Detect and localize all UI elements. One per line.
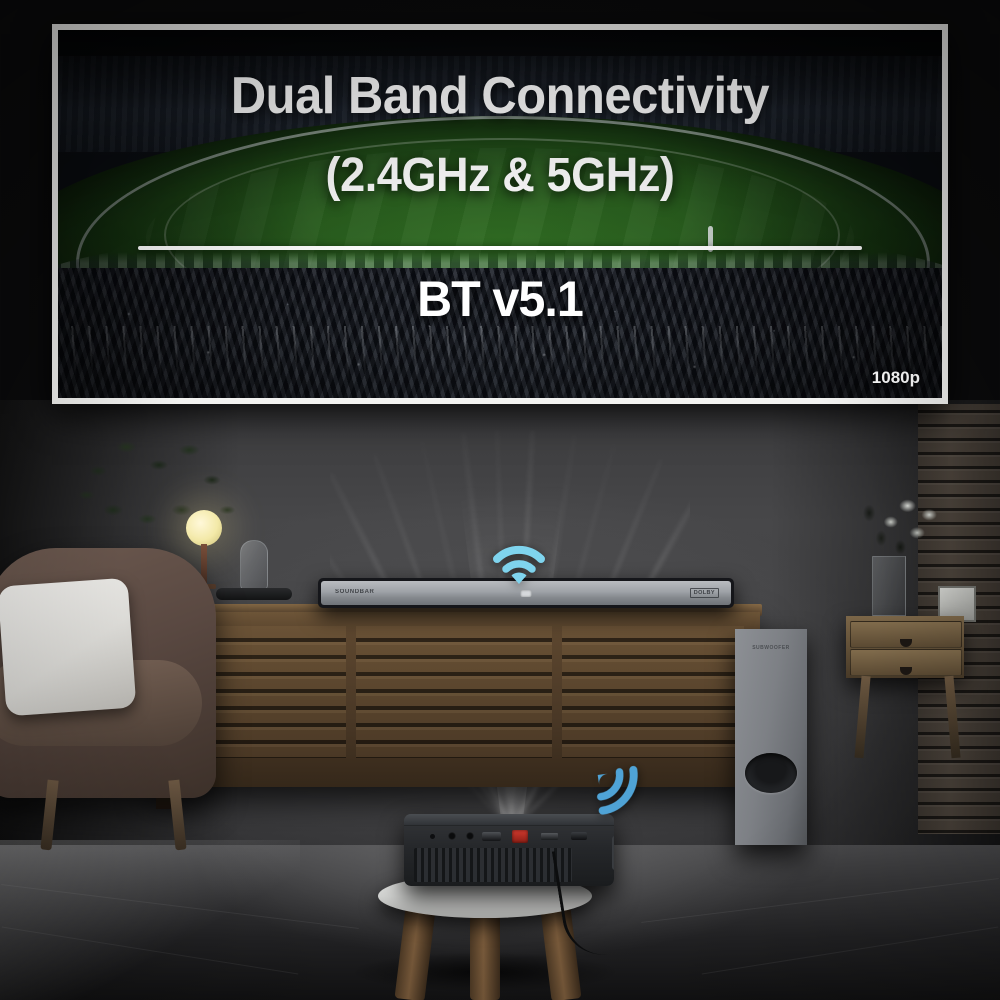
slat-line [918, 704, 1000, 707]
decorative-glassware [240, 540, 268, 590]
slat-line [918, 480, 1000, 483]
side-table [846, 616, 964, 678]
throw-pillow [0, 578, 136, 717]
projector-lifestyle-scene: Dual Band Connectivity (2.4GHz & 5GHz) B… [0, 0, 1000, 1000]
console-slat-line [356, 706, 552, 710]
side-table-drawer[interactable] [850, 649, 962, 676]
floor-light-pool [0, 840, 300, 1000]
headline-divider [138, 246, 862, 250]
aux-port[interactable] [571, 832, 587, 840]
stool-leg [470, 908, 500, 1000]
flower-vase [872, 556, 906, 616]
soundbar-status-led [521, 590, 532, 597]
console-slat-line [562, 672, 744, 676]
console-slat-line [562, 757, 744, 758]
dolby-badge: DOLBY [690, 588, 719, 598]
console-slat-line [356, 655, 552, 659]
screen-subheadline: (2.4GHz & 5GHz) [85, 152, 916, 200]
av-composite-port[interactable] [512, 830, 528, 843]
slat-line [918, 830, 1000, 833]
slat-line [918, 438, 1000, 441]
slat-line [918, 410, 1000, 413]
wifi-icon-soundbar [492, 542, 546, 586]
slat-line [918, 718, 1000, 721]
side-table-drawer[interactable] [850, 621, 962, 648]
screen-headline: Dual Band Connectivity [85, 70, 916, 122]
console-slat-line [562, 638, 744, 642]
slat-line [918, 774, 1000, 777]
wifi-icon-projector [593, 765, 647, 815]
console-slat-line [356, 672, 552, 676]
audio-out-jack[interactable] [448, 832, 456, 840]
projector-top-surface [404, 814, 614, 826]
slat-line [918, 424, 1000, 427]
console-slat-line [562, 655, 744, 659]
slat-line [918, 466, 1000, 469]
hdmi-port[interactable] [482, 832, 501, 841]
slat-line [918, 802, 1000, 805]
decorative-tray [216, 588, 292, 600]
slat-line [918, 788, 1000, 791]
console-slat-line [356, 638, 552, 642]
bluetooth-version-label: BT v5.1 [71, 274, 928, 324]
console-panel-right [562, 626, 744, 758]
resolution-badge: 1080p [872, 368, 920, 388]
soundbar-brand-label: SOUNDBAR [335, 589, 374, 595]
console-slat-line [356, 757, 552, 758]
console-slat-line [356, 740, 552, 744]
projector-vent-grille [414, 848, 572, 882]
globe-table-lamp [186, 510, 222, 546]
console-slat-line [562, 706, 744, 710]
projection-screen: Dual Band Connectivity (2.4GHz & 5GHz) B… [52, 24, 948, 404]
drawer-handle[interactable] [900, 639, 912, 647]
console-slat-line [562, 723, 744, 727]
drawer-handle[interactable] [900, 667, 912, 675]
console-panel-center [356, 626, 552, 758]
console-slat-line [356, 723, 552, 727]
wooden-console [150, 612, 760, 787]
console-slat-line [562, 740, 744, 744]
console-slat-line [562, 689, 744, 693]
slat-line [918, 732, 1000, 735]
slat-line [918, 578, 1000, 581]
av-in-jack[interactable] [466, 832, 474, 840]
projected-image: Dual Band Connectivity (2.4GHz & 5GHz) B… [58, 30, 942, 398]
slat-line [918, 452, 1000, 455]
usb-port[interactable] [541, 833, 558, 840]
ir-receiver-icon [430, 834, 435, 839]
subwoofer-brand-label: SUBWOOFER [752, 645, 790, 651]
console-slat-line [356, 689, 552, 693]
slat-line [918, 760, 1000, 763]
slat-line [918, 690, 1000, 693]
slat-line [918, 816, 1000, 819]
wireless-subwoofer[interactable]: SUBWOOFER [735, 629, 807, 845]
subwoofer-bass-port [745, 753, 797, 793]
